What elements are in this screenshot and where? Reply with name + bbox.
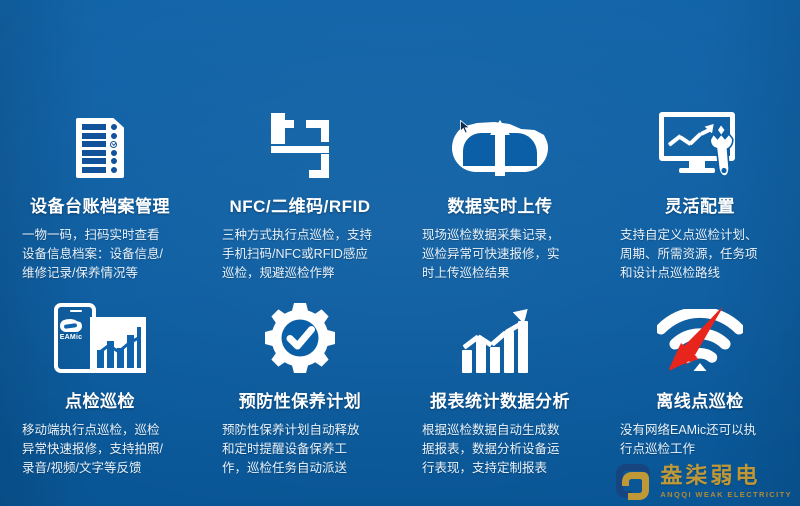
- feature-card-realtime-upload[interactable]: 数据实时上传 现场巡检数据采集记录， 巡检异常可快速报修，实 时上传巡检结果: [400, 98, 600, 293]
- card-description: 预防性保养计划自动释放 和定时提醒设备保养工 作，巡检任务自动派送: [222, 421, 386, 478]
- icon-container: [200, 293, 400, 373]
- feature-card-point-inspection[interactable]: EAMic 点检巡检 移动端: [0, 293, 200, 493]
- wrench-icon: [709, 122, 735, 178]
- cloud-upload-icon: [452, 116, 548, 178]
- card-title: 灵活配置: [600, 192, 800, 217]
- gear-check-icon: [265, 303, 335, 373]
- icon-container: [200, 98, 400, 178]
- card-description: 现场巡检数据采集记录， 巡检异常可快速报修，实 时上传巡检结果: [422, 226, 586, 283]
- icon-container: [600, 98, 800, 178]
- mobile-inspection-chart-icon: EAMic: [54, 303, 146, 373]
- card-description: 三种方式执行点巡检，支持 手机扫码/NFC或RFID感应 巡检，规避巡检作弊: [222, 226, 386, 283]
- card-description: 移动端执行点巡检，巡检 异常快速报修，支持拍照/ 录音/视频/文字等反馈: [22, 421, 186, 478]
- card-description: 一物一码，扫码实时查看 设备信息档案：设备信息/ 维修记录/保养情况等: [22, 226, 186, 283]
- icon-container: [400, 293, 600, 373]
- anqqi-logo-icon: [610, 460, 652, 502]
- eamic-logo-label: EAMic: [58, 334, 84, 341]
- watermark-name-en: ANQQI WEAK ELECTRICITY: [660, 490, 792, 499]
- chart-panel: [90, 317, 146, 373]
- document-checklist-icon: [76, 118, 124, 178]
- scan-qr-frame-icon: [271, 120, 329, 178]
- card-description: 支持自定义点巡检计划、 周期、所需资源，任务项 和设计点巡检路线: [620, 226, 792, 283]
- icon-container: [400, 98, 600, 178]
- card-description: 根据巡检数据自动生成数 据报表，数据分析设备运 行表现，支持定制报表: [422, 421, 586, 478]
- card-title: 点检巡检: [0, 387, 200, 412]
- feature-card-nfc-qr-rfid[interactable]: NFC/二维码/RFID 三种方式执行点巡检，支持 手机扫码/NFC或RFID感…: [200, 98, 400, 293]
- feature-card-report-analytics[interactable]: 报表统计数据分析 根据巡检数据自动生成数 据报表，数据分析设备运 行表现，支持定…: [400, 293, 600, 493]
- feature-grid: 设备台账档案管理 一物一码，扫码实时查看 设备信息档案：设备信息/ 维修记录/保…: [0, 0, 800, 506]
- icon-container: [600, 293, 800, 373]
- red-slash-arrow-icon: [667, 307, 729, 377]
- card-title: 数据实时上传: [400, 192, 600, 217]
- icon-container: [0, 98, 200, 178]
- feature-card-flexible-config[interactable]: 灵活配置 支持自定义点巡检计划、 周期、所需资源，任务项 和设计点巡检路线: [600, 98, 800, 293]
- bar-chart-growth-icon: [460, 307, 540, 373]
- cloud-logo-icon: [60, 319, 82, 332]
- card-title: 离线点巡检: [600, 387, 800, 412]
- eamic-logo: EAMic: [58, 319, 84, 341]
- feature-card-preventive-maintenance[interactable]: 预防性保养计划 预防性保养计划自动释放 和定时提醒设备保养工 作，巡检任务自动派…: [200, 293, 400, 493]
- watermark-name-cn: 盎柒弱电: [660, 464, 792, 488]
- monitor-chart-wrench-icon: [659, 112, 741, 178]
- card-title: NFC/二维码/RFID: [200, 192, 400, 217]
- card-title: 报表统计数据分析: [400, 387, 600, 412]
- card-description: 没有网络EAMic还可以执 行点巡检工作: [620, 421, 792, 459]
- icon-container: EAMic: [0, 293, 200, 373]
- card-title: 设备台账档案管理: [0, 192, 200, 217]
- card-title: 预防性保养计划: [200, 387, 400, 412]
- watermark: 盎柒弱电 ANQQI WEAK ELECTRICITY: [610, 460, 792, 502]
- feature-card-equipment-ledger[interactable]: 设备台账档案管理 一物一码，扫码实时查看 设备信息档案：设备信息/ 维修记录/保…: [0, 98, 200, 293]
- mouse-cursor-icon: [460, 120, 472, 134]
- wifi-offline-icon: [657, 309, 743, 373]
